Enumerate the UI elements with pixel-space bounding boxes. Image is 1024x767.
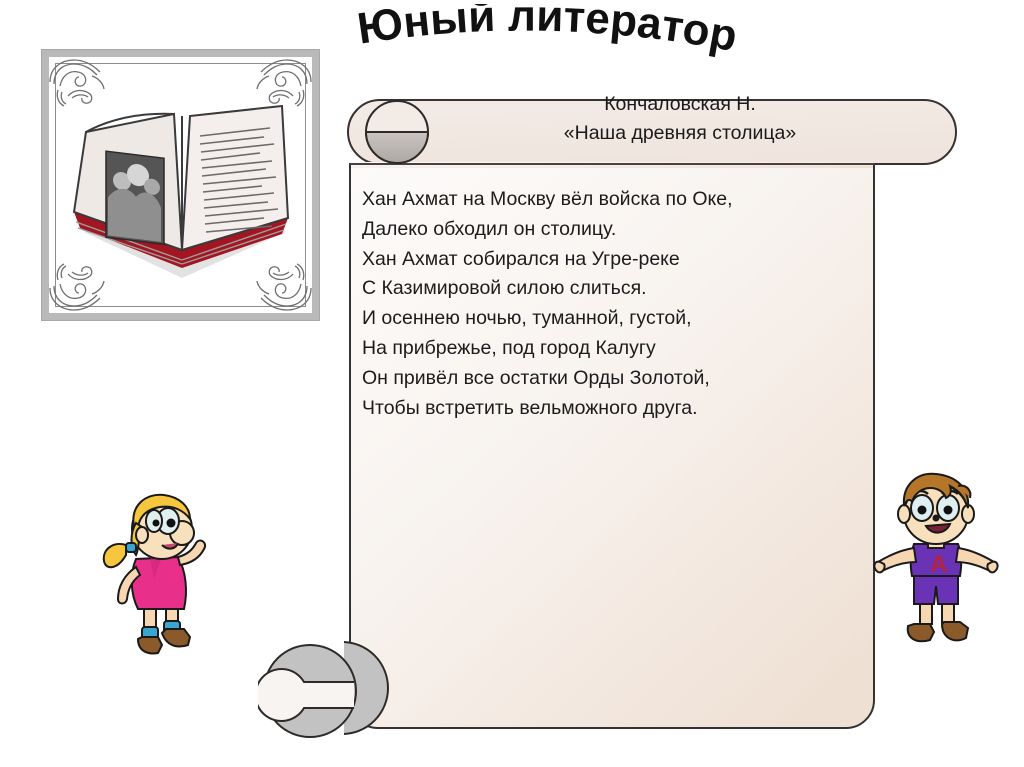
poem-body: Хан Ахмат на Москву вёл войска по Оке, Д… <box>362 185 862 423</box>
poem-line: На прибрежье, под город Калугу <box>362 334 862 364</box>
poem-line: Он привёл все остатки Орды Золотой, <box>362 364 862 394</box>
book-illustration-frame <box>41 49 320 321</box>
poem-line: И осеннею ночью, туманной, густой, <box>362 304 862 334</box>
poem-line: Чтобы встретить вельможного друга. <box>362 394 862 424</box>
poem-line: Далеко обходил он столицу. <box>362 215 862 245</box>
cartoon-girl-illustration <box>96 487 220 662</box>
shirt-letter: А <box>930 551 947 578</box>
slide-canvas: Юный литератор <box>0 0 1024 767</box>
cartoon-boy-illustration: А <box>872 468 1000 658</box>
scroll-header: Кончаловская Н. «Наша древняя столица» <box>400 90 960 148</box>
scroll-curl-bottom-left-icon <box>258 636 378 746</box>
page-title: Юный литератор <box>352 4 792 70</box>
poem-line: С Казимировой силою слиться. <box>362 274 862 304</box>
poem-line: Хан Ахмат на Москву вёл войска по Оке, <box>362 185 862 215</box>
author-name: Кончаловская Н. <box>400 90 960 119</box>
open-book-icon <box>64 92 300 288</box>
page-title-text: Юный литератор <box>354 4 740 61</box>
work-title: «Наша древняя столица» <box>400 119 960 148</box>
poem-line: Хан Ахмат собирался на Угре-реке <box>362 245 862 275</box>
